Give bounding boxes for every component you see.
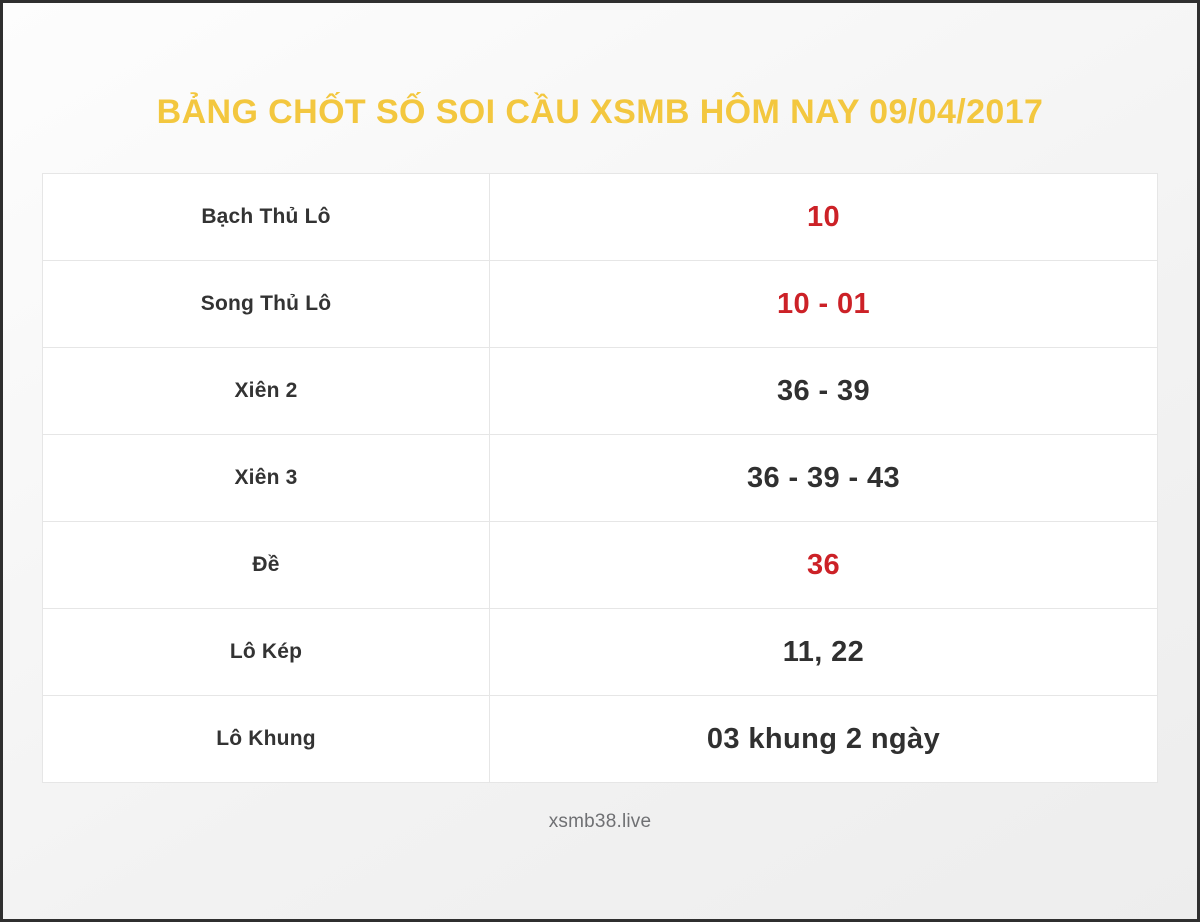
table-row: Xiên 236 - 39 (43, 348, 1158, 435)
row-value-cell: 36 (490, 522, 1158, 609)
table-row: Xiên 336 - 39 - 43 (43, 435, 1158, 522)
row-value: 11, 22 (783, 636, 864, 668)
prediction-board: BẢNG CHỐT SỐ SOI CẦU XSMB HÔM NAY 09/04/… (0, 0, 1200, 922)
prediction-table: Bạch Thủ Lô10Song Thủ Lô10 - 01Xiên 236 … (42, 173, 1158, 783)
row-value-cell: 36 - 39 - 43 (490, 435, 1158, 522)
table-row: Đề36 (43, 522, 1158, 609)
row-label: Xiên 2 (234, 379, 297, 402)
row-label: Lô Khung (216, 727, 316, 750)
row-label: Đề (252, 553, 279, 576)
row-label-cell: Song Thủ Lô (43, 261, 490, 348)
row-value-cell: 03 khung 2 ngày (490, 696, 1158, 783)
page-title: BẢNG CHỐT SỐ SOI CẦU XSMB HÔM NAY 09/04/… (157, 95, 1044, 129)
row-value: 36 (807, 549, 840, 581)
row-value: 03 khung 2 ngày (707, 723, 940, 755)
row-label-cell: Đề (43, 522, 490, 609)
row-value: 10 (807, 201, 840, 233)
table-row: Song Thủ Lô10 - 01 (43, 261, 1158, 348)
table-row: Bạch Thủ Lô10 (43, 174, 1158, 261)
row-value-cell: 10 - 01 (490, 261, 1158, 348)
row-label-cell: Lô Khung (43, 696, 490, 783)
row-label: Bạch Thủ Lô (201, 205, 330, 228)
prediction-table-body: Bạch Thủ Lô10Song Thủ Lô10 - 01Xiên 236 … (43, 174, 1158, 783)
row-label: Song Thủ Lô (201, 292, 332, 315)
site-watermark: xsmb38.live (549, 811, 652, 833)
row-label-cell: Xiên 2 (43, 348, 490, 435)
row-value-cell: 11, 22 (490, 609, 1158, 696)
row-label: Xiên 3 (234, 466, 297, 489)
row-value-cell: 36 - 39 (490, 348, 1158, 435)
row-label-cell: Bạch Thủ Lô (43, 174, 490, 261)
row-value-cell: 10 (490, 174, 1158, 261)
row-label-cell: Xiên 3 (43, 435, 490, 522)
table-row: Lô Khung03 khung 2 ngày (43, 696, 1158, 783)
row-label-cell: Lô Kép (43, 609, 490, 696)
row-value: 10 - 01 (777, 288, 870, 320)
table-row: Lô Kép11, 22 (43, 609, 1158, 696)
row-value: 36 - 39 - 43 (747, 462, 900, 494)
row-label: Lô Kép (230, 640, 302, 663)
row-value: 36 - 39 (777, 375, 870, 407)
